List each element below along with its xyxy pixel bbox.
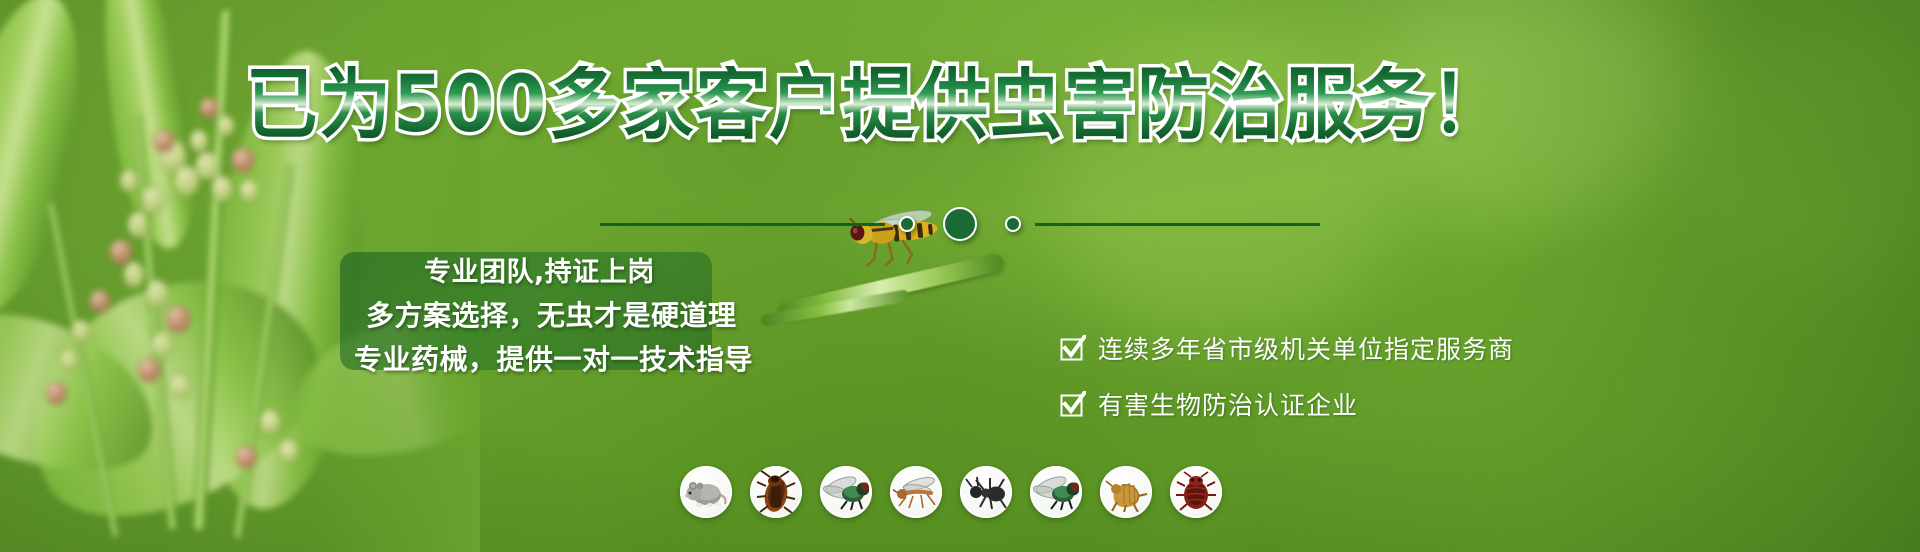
checkbox-checked-icon [1060,391,1086,417]
claim-line-3: 专业药械，提供一对一技术指导 [346,338,900,382]
cockroach-icon [755,470,797,514]
decorative-divider [0,208,1920,240]
flea-icon [1104,472,1148,512]
pest-icon-rat[interactable] [680,466,732,518]
divider-dot-small-right [1005,216,1021,232]
divider-dot-small-left [899,216,915,232]
claim-line-1: 专业团队,持证上岗 [346,252,900,294]
pest-control-hero-banner: 已为500多家客户提供虫害防治服务！ 已为500多家客户提供虫害防治服务！ 专业… [0,0,1920,552]
fly-icon [823,472,869,512]
bedbug-icon [1175,471,1217,513]
rat-icon [684,473,728,511]
claims-text-group: 专业团队,持证上岗 多方案选择，无虫才是硬道理 专业药械，提供一对一技术指导 [340,252,900,382]
bullet-label: 有害生物防治认证企业 [1098,386,1358,422]
divider-line-left [600,223,885,226]
checkbox-checked-icon [1060,335,1086,361]
pest-icon-ant[interactable] [960,466,1012,518]
ant-icon [964,472,1008,512]
bullet-item: 有害生物防治认证企业 [1060,386,1514,422]
claim-line-2: 多方案选择，无虫才是硬道理 [346,294,900,338]
certification-bullet-list: 连续多年省市级机关单位指定服务商 有害生物防治认证企业 [1060,330,1514,442]
pest-icon-cockroach[interactable] [750,466,802,518]
pest-icon-bedbug[interactable] [1170,466,1222,518]
pest-icon-fly-2[interactable] [1030,466,1082,518]
bullet-label: 连续多年省市级机关单位指定服务商 [1098,330,1514,366]
pest-type-icon-row [680,466,1222,518]
pest-icon-fly[interactable] [820,466,872,518]
fly-icon [1033,472,1079,512]
divider-dot-large-center [943,207,977,241]
bullet-item: 连续多年省市级机关单位指定服务商 [1060,330,1514,366]
pest-icon-mosquito[interactable] [890,466,942,518]
pest-icon-flea[interactable] [1100,466,1152,518]
divider-line-right [1035,223,1320,226]
mosquito-icon [893,472,939,512]
